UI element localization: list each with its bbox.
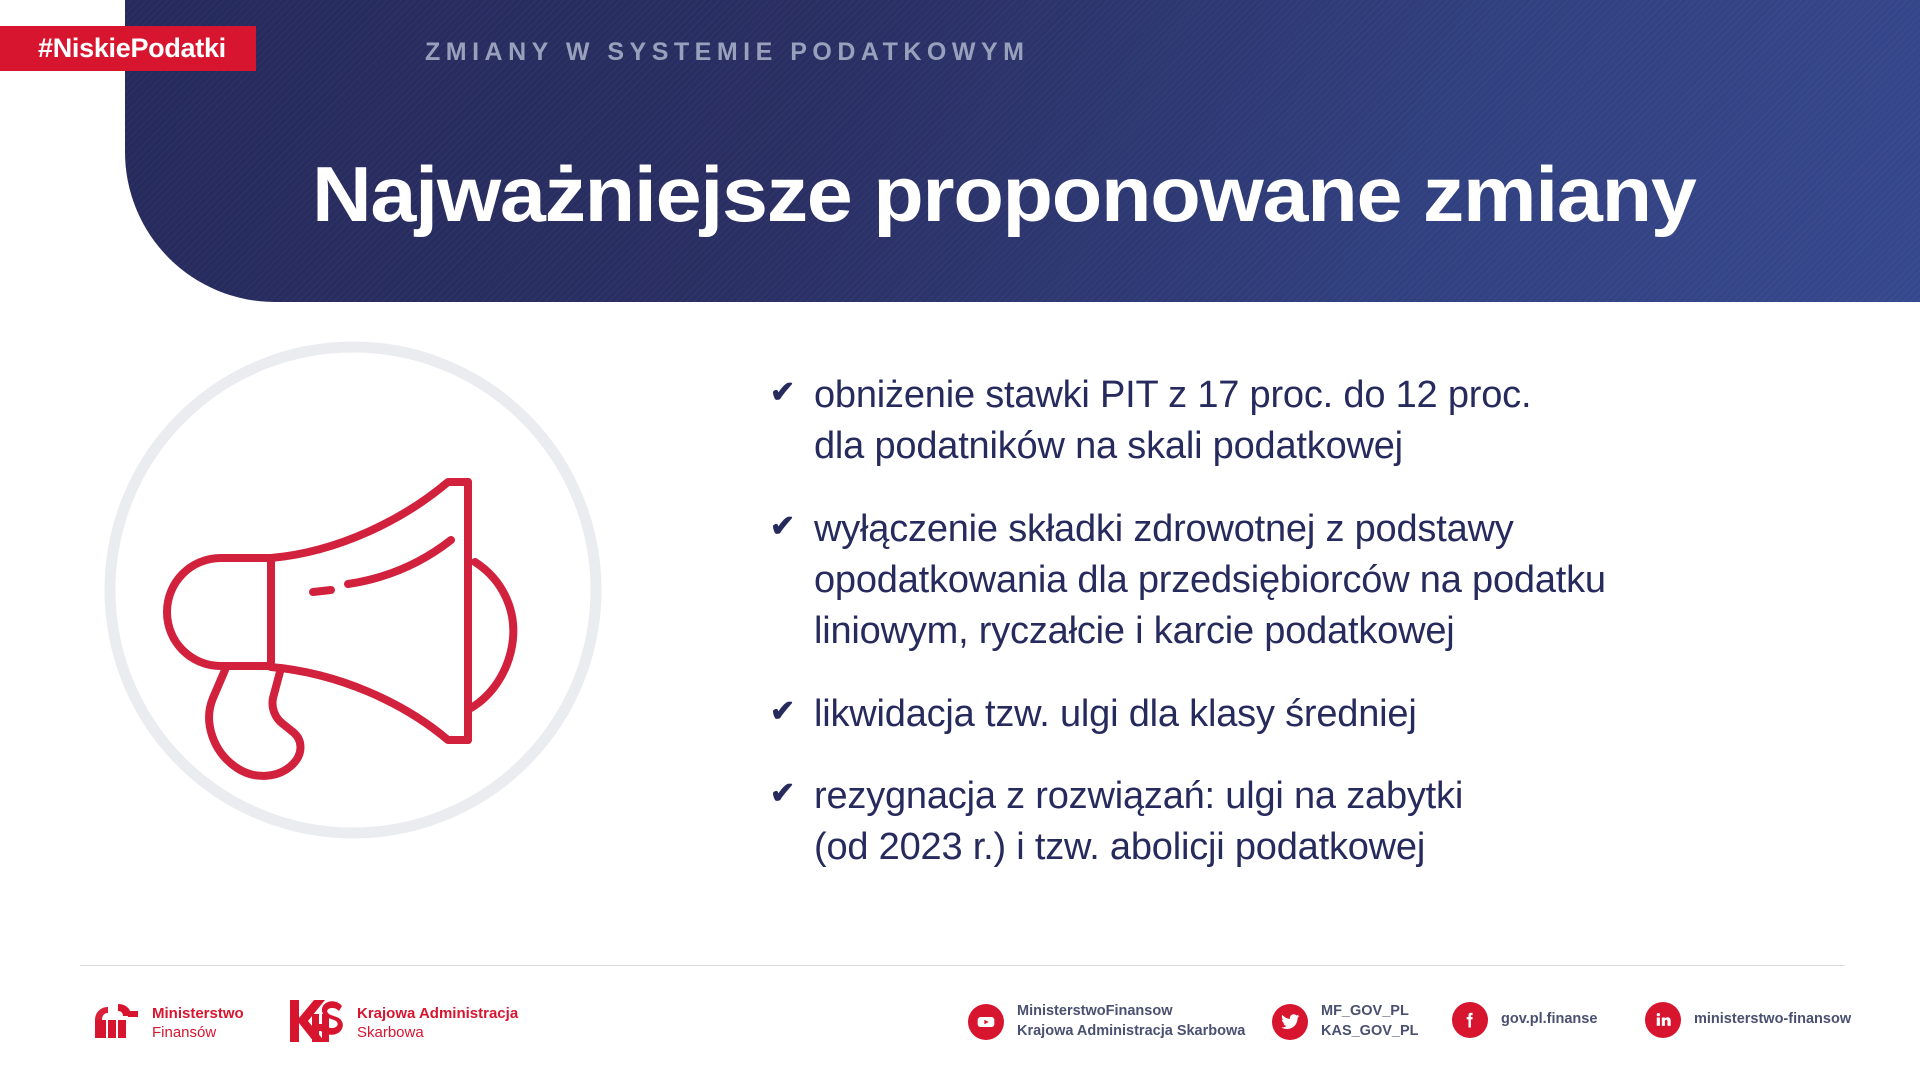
check-icon: ✔	[770, 689, 814, 727]
list-item: ✔ likwidacja tzw. ulgi dla klasy średnie…	[770, 689, 1860, 740]
list-item: ✔ rezygnacja z rozwiązań: ulgi na zabytk…	[770, 771, 1860, 873]
logo-krajowa-administracja-skarbowa: Krajowa Administracja Skarbowa	[290, 1000, 518, 1047]
list-item-line: dla podatników na skali podatkowej	[814, 421, 1531, 472]
hashtag-badge: #NiskiePodatki	[0, 26, 256, 71]
list-item-line: wyłączenie składki zdrowotnej z podstawy	[814, 504, 1606, 555]
list-item: ✔ wyłączenie składki zdrowotnej z podsta…	[770, 504, 1860, 657]
footer: Ministerstwo Finansów	[0, 990, 1920, 1080]
social-handle-line-2: KAS_GOV_PL	[1321, 1023, 1419, 1039]
logo-line-2: Skarbowa	[357, 1024, 424, 1041]
list-item-line: rezygnacja z rozwiązań: ulgi na zabytki	[814, 771, 1463, 822]
header-banner: ZMIANY W SYSTEMIE PODATKOWYM Najważniejs…	[125, 0, 1920, 302]
twitter-icon[interactable]	[1272, 1004, 1308, 1040]
social-handle-line-1: gov.pl.finanse	[1501, 1011, 1597, 1027]
logo-line-2: Finansów	[152, 1024, 216, 1041]
list-item-line: opodatkowania dla przedsiębiorców na pod…	[814, 555, 1606, 606]
social-handle-line-2: Krajowa Administracja Skarbowa	[1017, 1023, 1245, 1039]
list-item-line: liniowym, ryczałcie i karcie podatkowej	[814, 606, 1606, 657]
social-handle: MinisterstwoFinansow Krajowa Administrac…	[1017, 1002, 1245, 1041]
check-icon: ✔	[770, 504, 814, 542]
logo-line-1: Krajowa Administracja	[357, 1005, 518, 1022]
list-item-text: rezygnacja z rozwiązań: ulgi na zabytki …	[814, 771, 1463, 873]
facebook-icon[interactable]	[1452, 1002, 1488, 1038]
social-youtube[interactable]: MinisterstwoFinansow Krajowa Administrac…	[968, 1002, 1245, 1041]
list-item-text: likwidacja tzw. ulgi dla klasy średniej	[814, 689, 1417, 740]
social-linkedin[interactable]: ministerstwo-finansow	[1645, 1002, 1851, 1038]
list-item-text: obniżenie stawki PIT z 17 proc. do 12 pr…	[814, 370, 1531, 472]
logo-text: Ministerstwo Finansów	[152, 1005, 244, 1043]
social-handle-line-1: MinisterstwoFinansow	[1017, 1003, 1173, 1019]
mf-logo-icon	[95, 1004, 141, 1043]
social-handle: gov.pl.finanse	[1501, 1010, 1597, 1030]
footer-divider	[80, 965, 1845, 966]
social-handle-line-1: MF_GOV_PL	[1321, 1003, 1409, 1019]
page-title: Najważniejsze proponowane zmiany	[312, 155, 1696, 233]
social-handle: ministerstwo-finansow	[1694, 1010, 1851, 1030]
social-handle-line-1: ministerstwo-finansow	[1694, 1011, 1851, 1027]
youtube-icon[interactable]	[968, 1004, 1004, 1040]
megaphone-icon	[167, 482, 513, 776]
logo-text: Krajowa Administracja Skarbowa	[357, 1005, 518, 1043]
check-icon: ✔	[770, 370, 814, 408]
social-twitter[interactable]: MF_GOV_PL KAS_GOV_PL	[1272, 1002, 1419, 1041]
logo-ministerstwo-finansow: Ministerstwo Finansów	[95, 1004, 244, 1043]
list-item-text: wyłączenie składki zdrowotnej z podstawy…	[814, 504, 1606, 657]
logo-line-1: Ministerstwo	[152, 1005, 244, 1022]
list-item: ✔ obniżenie stawki PIT z 17 proc. do 12 …	[770, 370, 1860, 472]
linkedin-icon[interactable]	[1645, 1002, 1681, 1038]
changes-list: ✔ obniżenie stawki PIT z 17 proc. do 12 …	[770, 370, 1860, 873]
decorative-circle-ring	[110, 347, 596, 833]
social-handle: MF_GOV_PL KAS_GOV_PL	[1321, 1002, 1419, 1041]
social-facebook[interactable]: gov.pl.finanse	[1452, 1002, 1597, 1038]
list-item-line: (od 2023 r.) i tzw. abolicji podatkowej	[814, 822, 1463, 873]
kas-logo-icon	[290, 1000, 346, 1047]
megaphone-illustration	[103, 340, 603, 840]
list-item-line: obniżenie stawki PIT z 17 proc. do 12 pr…	[814, 370, 1531, 421]
infographic-slide: ZMIANY W SYSTEMIE PODATKOWYM Najważniejs…	[0, 0, 1920, 1080]
header-subtitle: ZMIANY W SYSTEMIE PODATKOWYM	[425, 38, 1029, 67]
check-icon: ✔	[770, 771, 814, 809]
list-item-line: likwidacja tzw. ulgi dla klasy średniej	[814, 689, 1417, 740]
